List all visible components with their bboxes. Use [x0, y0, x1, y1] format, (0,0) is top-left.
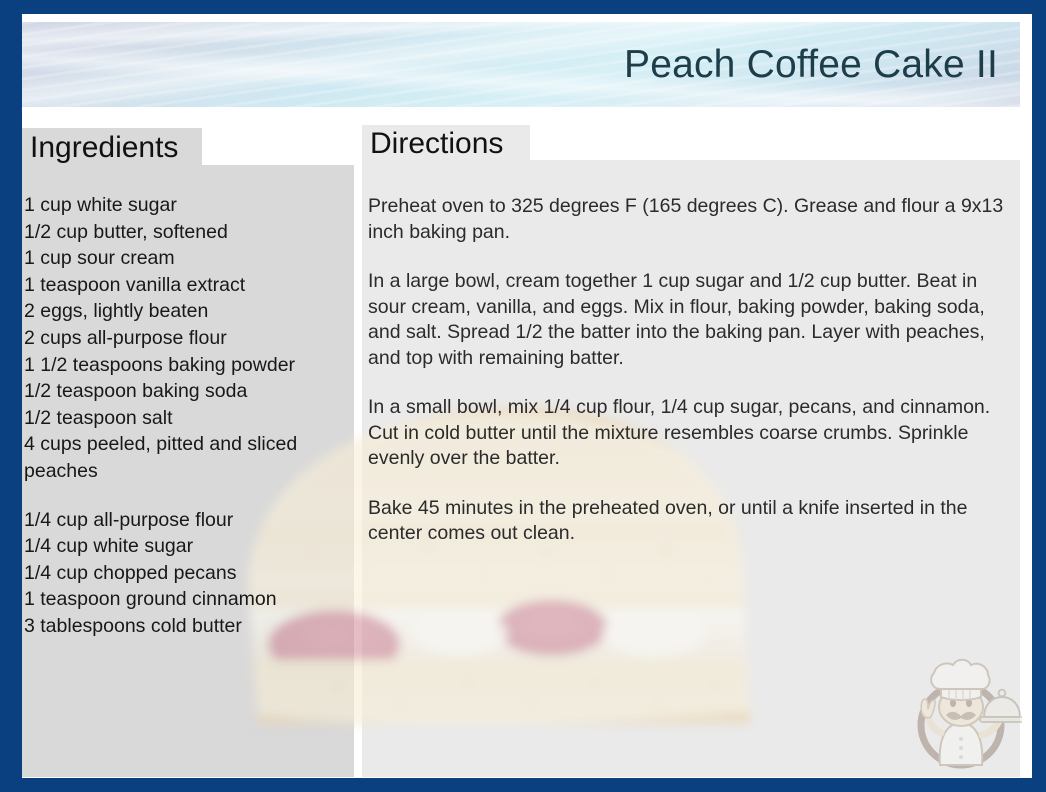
- directions-list: Preheat oven to 325 degrees F (165 degre…: [368, 194, 1012, 571]
- title-banner: Peach Coffee Cake II: [22, 22, 1020, 107]
- recipe-card: Peach Coffee Cake II: [0, 0, 1046, 792]
- list-item: 1/4 cup chopped pecans: [24, 560, 354, 587]
- list-item: 1/4 cup all-purpose flour: [24, 507, 354, 534]
- list-item: 1/2 cup butter, softened: [24, 219, 354, 246]
- list-item: 3 tablespoons cold butter: [24, 613, 354, 640]
- directions-heading-tab: Directions: [362, 125, 530, 163]
- list-item: 1 cup sour cream: [24, 245, 354, 272]
- list-item: 1 cup white sugar: [24, 192, 354, 219]
- page-title: Peach Coffee Cake II: [624, 43, 998, 87]
- ingredient-group: 1 cup white sugar 1/2 cup butter, soften…: [24, 192, 354, 485]
- list-item: 1 teaspoon ground cinnamon: [24, 586, 354, 613]
- list-item: 1/4 cup white sugar: [24, 533, 354, 560]
- directions-heading-label: Directions: [370, 129, 503, 159]
- list-item: 1/2 teaspoon baking soda: [24, 378, 354, 405]
- list-item: 2 eggs, lightly beaten: [24, 298, 354, 325]
- list-item: 1 teaspoon vanilla extract: [24, 272, 354, 299]
- direction-step: In a large bowl, cream together 1 cup su…: [368, 269, 1012, 371]
- ingredients-list: 1 cup white sugar 1/2 cup butter, soften…: [24, 192, 354, 662]
- direction-step: Preheat oven to 325 degrees F (165 degre…: [368, 194, 1012, 245]
- direction-step: In a small bowl, mix 1/4 cup flour, 1/4 …: [368, 395, 1012, 472]
- ingredients-heading-tab: Ingredients: [22, 128, 202, 168]
- ingredients-heading-label: Ingredients: [30, 133, 178, 163]
- direction-step: Bake 45 minutes in the preheated oven, o…: [368, 496, 1012, 547]
- list-item: 1/2 teaspoon salt: [24, 405, 354, 432]
- list-item: 2 cups all-purpose flour: [24, 325, 354, 352]
- list-item: 4 cups peeled, pitted and sliced peaches: [24, 431, 354, 484]
- ingredient-group: 1/4 cup all-purpose flour 1/4 cup white …: [24, 507, 354, 640]
- list-item: 1 1/2 teaspoons baking powder: [24, 352, 354, 379]
